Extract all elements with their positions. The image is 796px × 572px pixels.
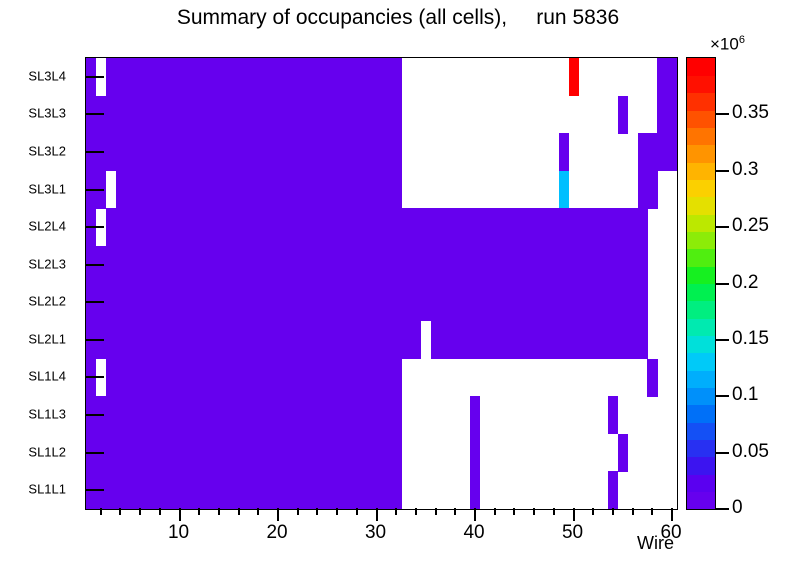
heatmap-cell — [234, 396, 244, 434]
heatmap-cell — [106, 434, 116, 472]
heatmap-cell — [519, 246, 529, 284]
heatmap-cell — [224, 246, 234, 284]
heatmap-cell — [106, 208, 116, 246]
heatmap-cell — [391, 396, 401, 434]
heatmap-cell — [155, 171, 165, 209]
heatmap-cell — [116, 96, 126, 134]
heatmap-cell — [263, 246, 273, 284]
heatmap-cell — [234, 359, 244, 397]
color-scale-band — [687, 75, 715, 93]
heatmap-cell — [116, 133, 126, 171]
heatmap-cell — [352, 246, 362, 284]
color-scale-band — [687, 145, 715, 163]
y-axis-tick — [85, 264, 104, 266]
heatmap-cell — [332, 246, 342, 284]
heatmap-cell — [145, 58, 155, 96]
heatmap-cell — [382, 471, 392, 509]
heatmap-cell — [391, 434, 401, 472]
x-axis-minor-tick — [257, 508, 259, 515]
heatmap-cell — [569, 321, 579, 359]
color-scale-band — [687, 110, 715, 128]
heatmap-cell — [135, 396, 145, 434]
z-axis-exponent-power: 6 — [739, 34, 745, 46]
heatmap-cell — [244, 471, 254, 509]
heatmap-cell — [431, 321, 441, 359]
heatmap-cell — [322, 284, 332, 322]
heatmap-cell — [263, 58, 273, 96]
heatmap-cell — [135, 208, 145, 246]
heatmap-cell — [106, 396, 116, 434]
heatmap-cell — [224, 396, 234, 434]
heatmap-cell — [372, 171, 382, 209]
heatmap-cell — [145, 171, 155, 209]
heatmap-cell — [638, 133, 648, 171]
heatmap-cell — [332, 321, 342, 359]
heatmap-cell — [293, 396, 303, 434]
heatmap-cell — [244, 434, 254, 472]
heatmap-cell — [303, 359, 313, 397]
heatmap-cell — [313, 246, 323, 284]
heatmap-cell — [194, 359, 204, 397]
heatmap-cell — [135, 471, 145, 509]
heatmap-cell — [224, 96, 234, 134]
heatmap-cell — [549, 246, 559, 284]
x-axis-tick-label: 30 — [365, 522, 386, 544]
heatmap-cell — [224, 133, 234, 171]
heatmap-cell — [273, 321, 283, 359]
heatmap-cell — [352, 208, 362, 246]
color-scale-band — [687, 336, 715, 354]
heatmap-cell — [214, 396, 224, 434]
x-axis-minor-tick — [632, 508, 634, 515]
heatmap-cell — [293, 284, 303, 322]
heatmap-cell — [460, 284, 470, 322]
heatmap-cell — [125, 434, 135, 472]
heatmap-cell — [372, 471, 382, 509]
y-axis-tick — [85, 301, 104, 303]
heatmap-cell — [322, 171, 332, 209]
x-axis-minor-tick — [651, 508, 653, 515]
heatmap-cell — [214, 321, 224, 359]
heatmap-cell — [204, 321, 214, 359]
heatmap-cell — [352, 284, 362, 322]
heatmap-cell — [155, 246, 165, 284]
heatmap-cell — [234, 321, 244, 359]
y-axis-label-sl2l1: SL2L1 — [28, 331, 66, 346]
page-title: Summary of occupancies (all cells), run … — [0, 6, 796, 30]
color-scale-band — [687, 388, 715, 406]
heatmap-cell — [322, 58, 332, 96]
heatmap-cell — [382, 321, 392, 359]
heatmap-cell — [372, 58, 382, 96]
heatmap-cell — [185, 321, 195, 359]
heatmap-cell — [263, 396, 273, 434]
heatmap-cell — [510, 246, 520, 284]
heatmap-cell — [145, 208, 155, 246]
z-axis-exponent: ×106 — [710, 34, 745, 55]
x-axis-minor-tick — [533, 508, 535, 515]
heatmap-cell — [224, 58, 234, 96]
color-scale-band — [687, 353, 715, 371]
heatmap-cell — [194, 434, 204, 472]
color-scale-band — [687, 422, 715, 440]
heatmap-cell — [106, 96, 116, 134]
heatmap-cell — [638, 208, 648, 246]
heatmap-cell — [332, 396, 342, 434]
heatmap-cell — [263, 133, 273, 171]
color-scale-band — [687, 301, 715, 319]
heatmap-cell — [500, 284, 510, 322]
heatmap-cell — [135, 284, 145, 322]
heatmap-cell — [559, 246, 569, 284]
x-axis-major-tick — [474, 508, 476, 521]
heatmap-cell — [313, 96, 323, 134]
heatmap-cell — [204, 208, 214, 246]
heatmap-cell — [460, 321, 470, 359]
heatmap-cell — [145, 434, 155, 472]
heatmap-cell — [145, 396, 155, 434]
color-scale-band — [687, 284, 715, 302]
heatmap-cell — [470, 471, 480, 509]
heatmap-cell — [185, 396, 195, 434]
heatmap-cell — [125, 133, 135, 171]
heatmap-cell — [303, 246, 313, 284]
heatmap-cell — [234, 96, 244, 134]
heatmap-cell — [175, 96, 185, 134]
heatmap-cell — [500, 246, 510, 284]
heatmap-cell — [155, 58, 165, 96]
heatmap-cell — [175, 321, 185, 359]
color-scale-band — [687, 197, 715, 215]
heatmap-cell — [224, 171, 234, 209]
heatmap-cell — [342, 396, 352, 434]
heatmap-cell — [273, 58, 283, 96]
heatmap-cell — [608, 396, 618, 434]
x-axis-tick-label: 10 — [168, 522, 189, 544]
heatmap-cell — [322, 321, 332, 359]
heatmap-cell — [391, 246, 401, 284]
y-axis-label-sl3l4: SL3L4 — [28, 68, 66, 83]
heatmap-cell — [441, 208, 451, 246]
color-scale-bar — [686, 57, 716, 510]
color-scale-band — [687, 266, 715, 284]
heatmap-cell — [135, 359, 145, 397]
heatmap-cell — [263, 321, 273, 359]
heatmap-cell — [352, 58, 362, 96]
y-axis-tick — [85, 489, 104, 491]
heatmap-cell — [372, 434, 382, 472]
color-scale-band — [687, 58, 715, 76]
x-axis-minor-tick — [119, 508, 121, 515]
heatmap-cell — [214, 284, 224, 322]
heatmap-cell — [421, 246, 431, 284]
heatmap-cell — [352, 321, 362, 359]
heatmap-cell — [313, 171, 323, 209]
heatmap-cell — [539, 246, 549, 284]
heatmap-cell — [145, 284, 155, 322]
heatmap-cell — [647, 171, 657, 209]
heatmap-cell — [125, 246, 135, 284]
x-axis-minor-tick — [238, 508, 240, 515]
heatmap-cell — [362, 133, 372, 171]
heatmap-cell — [559, 133, 569, 171]
heatmap-cell — [165, 434, 175, 472]
heatmap-cell — [273, 171, 283, 209]
heatmap-cell — [342, 208, 352, 246]
heatmap-cell — [253, 321, 263, 359]
heatmap-cell — [283, 58, 293, 96]
heatmap-cell — [470, 321, 480, 359]
heatmap-cell — [549, 321, 559, 359]
heatmap-cell — [382, 208, 392, 246]
heatmap-cell — [332, 359, 342, 397]
heatmap-cell — [194, 96, 204, 134]
heatmap-cell — [244, 321, 254, 359]
heatmap-cell — [372, 246, 382, 284]
heatmap-cell — [244, 171, 254, 209]
heatmap-cell — [441, 321, 451, 359]
heatmap-cell — [253, 171, 263, 209]
heatmap-cell — [185, 471, 195, 509]
x-axis-minor-tick — [415, 508, 417, 515]
heatmap-cell — [273, 96, 283, 134]
heatmap-cell — [155, 434, 165, 472]
z-axis-exponent-label: ×10 — [710, 35, 739, 54]
heatmap-cell — [116, 434, 126, 472]
y-axis-tick — [85, 452, 104, 454]
heatmap-cell — [214, 96, 224, 134]
z-axis-tick-label: 0.25 — [732, 215, 769, 237]
heatmap-cell — [579, 208, 589, 246]
heatmap-cell — [579, 321, 589, 359]
heatmap-cell — [372, 208, 382, 246]
heatmap-cell — [273, 246, 283, 284]
y-axis-tick — [85, 414, 104, 416]
heatmap-cell — [116, 284, 126, 322]
heatmap-cell — [125, 96, 135, 134]
x-axis-ticks: 102030405060 — [85, 508, 676, 538]
heatmap-cell — [431, 246, 441, 284]
heatmap-cell — [549, 208, 559, 246]
heatmap-cell — [253, 246, 263, 284]
heatmap-cell — [165, 321, 175, 359]
y-axis-tick — [85, 189, 104, 191]
heatmap-cell — [204, 471, 214, 509]
heatmap-cell — [194, 133, 204, 171]
x-axis-minor-tick — [494, 508, 496, 515]
x-axis-minor-tick — [435, 508, 437, 515]
heatmap-cell — [362, 321, 372, 359]
color-scale-band — [687, 127, 715, 145]
heatmap-cell — [116, 321, 126, 359]
heatmap-cell — [165, 133, 175, 171]
heatmap-cell — [106, 246, 116, 284]
heatmap-cell — [185, 359, 195, 397]
heatmap-cell — [273, 396, 283, 434]
heatmap-cell — [165, 471, 175, 509]
heatmap-cell — [253, 359, 263, 397]
heatmap-cell — [569, 208, 579, 246]
heatmap-cell — [510, 284, 520, 322]
heatmap-cell — [618, 96, 628, 134]
heatmap-cell — [204, 434, 214, 472]
heatmap-cell — [539, 284, 549, 322]
heatmap-cell — [362, 96, 372, 134]
heatmap-cell — [165, 208, 175, 246]
heatmap-cell — [667, 96, 677, 134]
heatmap-cell — [638, 171, 648, 209]
heatmap-cell — [391, 58, 401, 96]
heatmap-cell — [332, 96, 342, 134]
heatmap-cell — [588, 284, 598, 322]
heatmap-cell — [175, 171, 185, 209]
heatmap-cell — [155, 396, 165, 434]
heatmap-cell — [579, 284, 589, 322]
heatmap-cell — [372, 396, 382, 434]
heatmap-cell — [342, 171, 352, 209]
heatmap-cell — [382, 359, 392, 397]
heatmap-cell — [470, 246, 480, 284]
heatmap-cell — [283, 96, 293, 134]
color-scale-band — [687, 440, 715, 458]
heatmap-cell — [224, 359, 234, 397]
heatmap-cell — [411, 246, 421, 284]
heatmap-cell — [608, 208, 618, 246]
x-axis-tick-label: 40 — [463, 522, 484, 544]
heatmap-cell — [194, 208, 204, 246]
heatmap-cell — [116, 171, 126, 209]
heatmap-cell — [224, 471, 234, 509]
heatmap-cell — [204, 96, 214, 134]
y-axis-label-sl2l4: SL2L4 — [28, 219, 66, 234]
heatmap-cell — [116, 471, 126, 509]
heatmap-cell — [313, 321, 323, 359]
heatmap-cell — [253, 434, 263, 472]
x-axis-minor-tick — [356, 508, 358, 515]
heatmap-cell — [441, 246, 451, 284]
heatmap-cell — [155, 321, 165, 359]
y-axis-label-sl3l2: SL3L2 — [28, 143, 66, 158]
heatmap-cell — [313, 434, 323, 472]
heatmap-cell — [303, 208, 313, 246]
heatmap-cell — [135, 133, 145, 171]
heatmap-cell — [322, 246, 332, 284]
heatmap-cell — [185, 133, 195, 171]
x-axis-tick-label: 20 — [266, 522, 287, 544]
heatmap-cell — [303, 284, 313, 322]
z-axis-tick-label: 0.05 — [732, 441, 769, 463]
heatmap-cell — [175, 434, 185, 472]
heatmap-cell — [657, 58, 667, 96]
heatmap-cell — [382, 284, 392, 322]
heatmap-cell — [480, 321, 490, 359]
heatmap-cell — [234, 284, 244, 322]
heatmap-cell — [411, 321, 421, 359]
heatmap-cell — [234, 58, 244, 96]
heatmap-cell — [234, 208, 244, 246]
heatmap-cell — [539, 208, 549, 246]
heatmap-cell — [441, 284, 451, 322]
heatmap-cell — [293, 359, 303, 397]
z-axis-tick — [716, 395, 729, 397]
z-axis-tick — [716, 339, 729, 341]
heatmap-cell — [273, 359, 283, 397]
heatmap-cell — [135, 321, 145, 359]
heatmap-cell — [470, 208, 480, 246]
heatmap-cell — [204, 133, 214, 171]
heatmap-cell — [224, 434, 234, 472]
heatmap-cell — [647, 359, 657, 397]
heatmap-cell — [214, 246, 224, 284]
heatmap-cell — [175, 208, 185, 246]
x-axis-minor-tick — [297, 508, 299, 515]
heatmap-cell — [559, 321, 569, 359]
heatmap-cell — [588, 246, 598, 284]
heatmap-cell — [145, 359, 155, 397]
color-scale-band — [687, 492, 715, 510]
heatmap-cell — [618, 434, 628, 472]
heatmap-cell — [539, 321, 549, 359]
heatmap-cell — [322, 434, 332, 472]
heatmap-cell — [194, 321, 204, 359]
heatmap-cell — [470, 284, 480, 322]
heatmap-cell — [342, 96, 352, 134]
heatmap-cell — [411, 208, 421, 246]
heatmap-cell — [303, 471, 313, 509]
heatmap-cell — [155, 471, 165, 509]
color-scale-band — [687, 405, 715, 423]
heatmap-cell — [116, 58, 126, 96]
heatmap-cell — [313, 359, 323, 397]
heatmap-cell — [204, 284, 214, 322]
heatmap-cell — [253, 208, 263, 246]
heatmap-cell — [391, 208, 401, 246]
heatmap-cell — [194, 471, 204, 509]
x-axis-major-tick — [376, 508, 378, 521]
heatmap-cell — [283, 396, 293, 434]
heatmap-cell — [135, 171, 145, 209]
z-axis-tick-label: 0.3 — [732, 159, 758, 181]
heatmap-cell — [234, 246, 244, 284]
heatmap-cell — [106, 284, 116, 322]
y-axis-label-sl1l4: SL1L4 — [28, 369, 66, 384]
heatmap-cell — [293, 434, 303, 472]
heatmap-cell — [155, 284, 165, 322]
heatmap-cell — [628, 208, 638, 246]
color-scale-band — [687, 214, 715, 232]
heatmap-cell — [175, 284, 185, 322]
heatmap-cell — [175, 133, 185, 171]
heatmap-cell — [618, 284, 628, 322]
heatmap-cell — [125, 171, 135, 209]
heatmap-cell — [382, 434, 392, 472]
color-scale-band — [687, 457, 715, 475]
heatmap-cell — [165, 396, 175, 434]
heatmap-cell — [569, 246, 579, 284]
heatmap-cell — [391, 471, 401, 509]
heatmap-cell — [450, 246, 460, 284]
x-axis-minor-tick — [592, 508, 594, 515]
heatmap-cell — [214, 208, 224, 246]
heatmap-cell — [253, 133, 263, 171]
heatmap-cell — [332, 171, 342, 209]
heatmap-cell — [322, 208, 332, 246]
x-axis-minor-tick — [395, 508, 397, 515]
y-axis-label-sl1l3: SL1L3 — [28, 407, 66, 422]
heatmap-cell — [283, 284, 293, 322]
heatmap-cell — [253, 396, 263, 434]
heatmap-cell — [175, 359, 185, 397]
